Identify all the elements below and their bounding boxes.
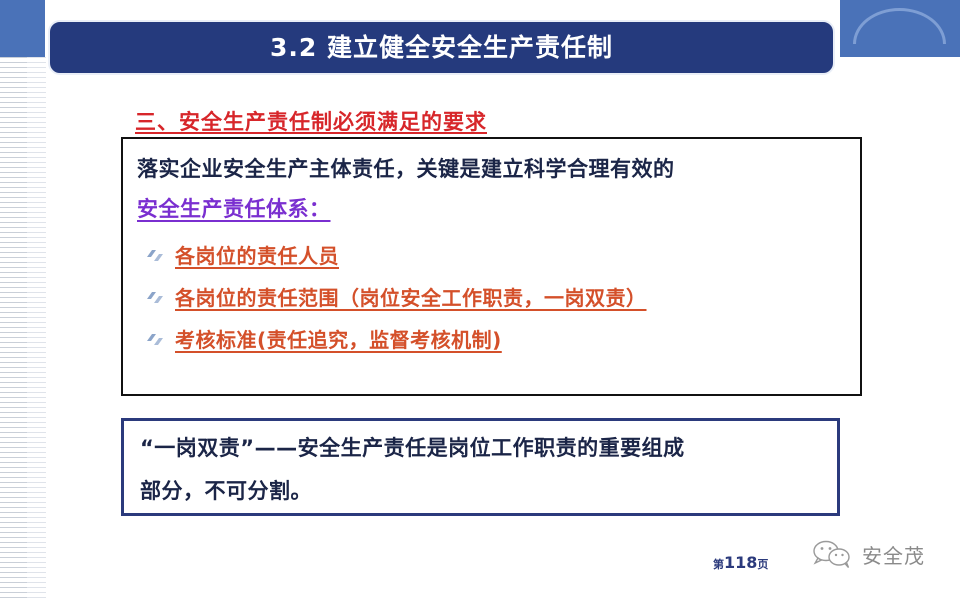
watermark: 安全茂 xyxy=(812,539,925,569)
arc-decoration-mask xyxy=(840,44,960,57)
left-stripe-pattern-secondary xyxy=(27,57,46,601)
left-blue-block xyxy=(0,0,45,57)
top-right-decor-panel xyxy=(840,0,960,57)
page-number-suffix: 页 xyxy=(757,558,768,571)
callout-line-1: “一岗双责”——安全生产责任是岗位工作职责的重要组成 xyxy=(140,427,821,470)
diamond-bullet-icon xyxy=(145,288,165,308)
page-number-value: 118 xyxy=(724,553,757,572)
page-title: 3.2 建立健全安全生产责任制 xyxy=(270,35,613,60)
diamond-bullet-icon xyxy=(145,246,165,266)
list-item-label: 各岗位的责任人员 xyxy=(175,235,339,277)
main-content-box: 落实企业安全生产主体责任，关键是建立科学合理有效的 安全生产责任体系： 各岗位的… xyxy=(121,137,862,396)
slide-canvas: 3.2 建立健全安全生产责任制 三、安全生产责任制必须满足的要求 落实企业安全生… xyxy=(0,0,960,601)
callout-line-2: 部分，不可分割。 xyxy=(140,470,821,513)
intro-line-primary: 落实企业安全生产主体责任，关键是建立科学合理有效的 xyxy=(137,149,846,189)
callout-box: “一岗双责”——安全生产责任是岗位工作职责的重要组成 部分，不可分割。 xyxy=(121,418,840,516)
list-item-label: 考核标准(责任追究，监督考核机制) xyxy=(175,319,502,361)
wechat-icon xyxy=(812,539,854,569)
intro-line-secondary-wrap: 安全生产责任体系： xyxy=(137,189,846,229)
slide-title-bar: 3.2 建立健全安全生产责任制 xyxy=(48,20,835,75)
list-item-label: 各岗位的责任范围（岗位安全工作职责，一岗双责） xyxy=(175,277,647,319)
page-number: 第118页 xyxy=(713,553,768,572)
page-number-prefix: 第 xyxy=(713,558,724,571)
watermark-label: 安全茂 xyxy=(862,540,925,569)
intro-line-secondary: 安全生产责任体系： xyxy=(137,189,331,229)
diamond-bullet-icon xyxy=(145,330,165,350)
list-item: 各岗位的责任人员 xyxy=(137,235,846,277)
list-item: 考核标准(责任追究，监督考核机制) xyxy=(137,319,846,361)
list-item: 各岗位的责任范围（岗位安全工作职责，一岗双责） xyxy=(137,277,846,319)
requirement-bullet-list: 各岗位的责任人员 各岗位的责任范围（岗位安全工作职责，一岗双责） 考核标准(责任… xyxy=(137,235,846,361)
section-heading: 三、安全生产责任制必须满足的要求 xyxy=(135,106,487,136)
